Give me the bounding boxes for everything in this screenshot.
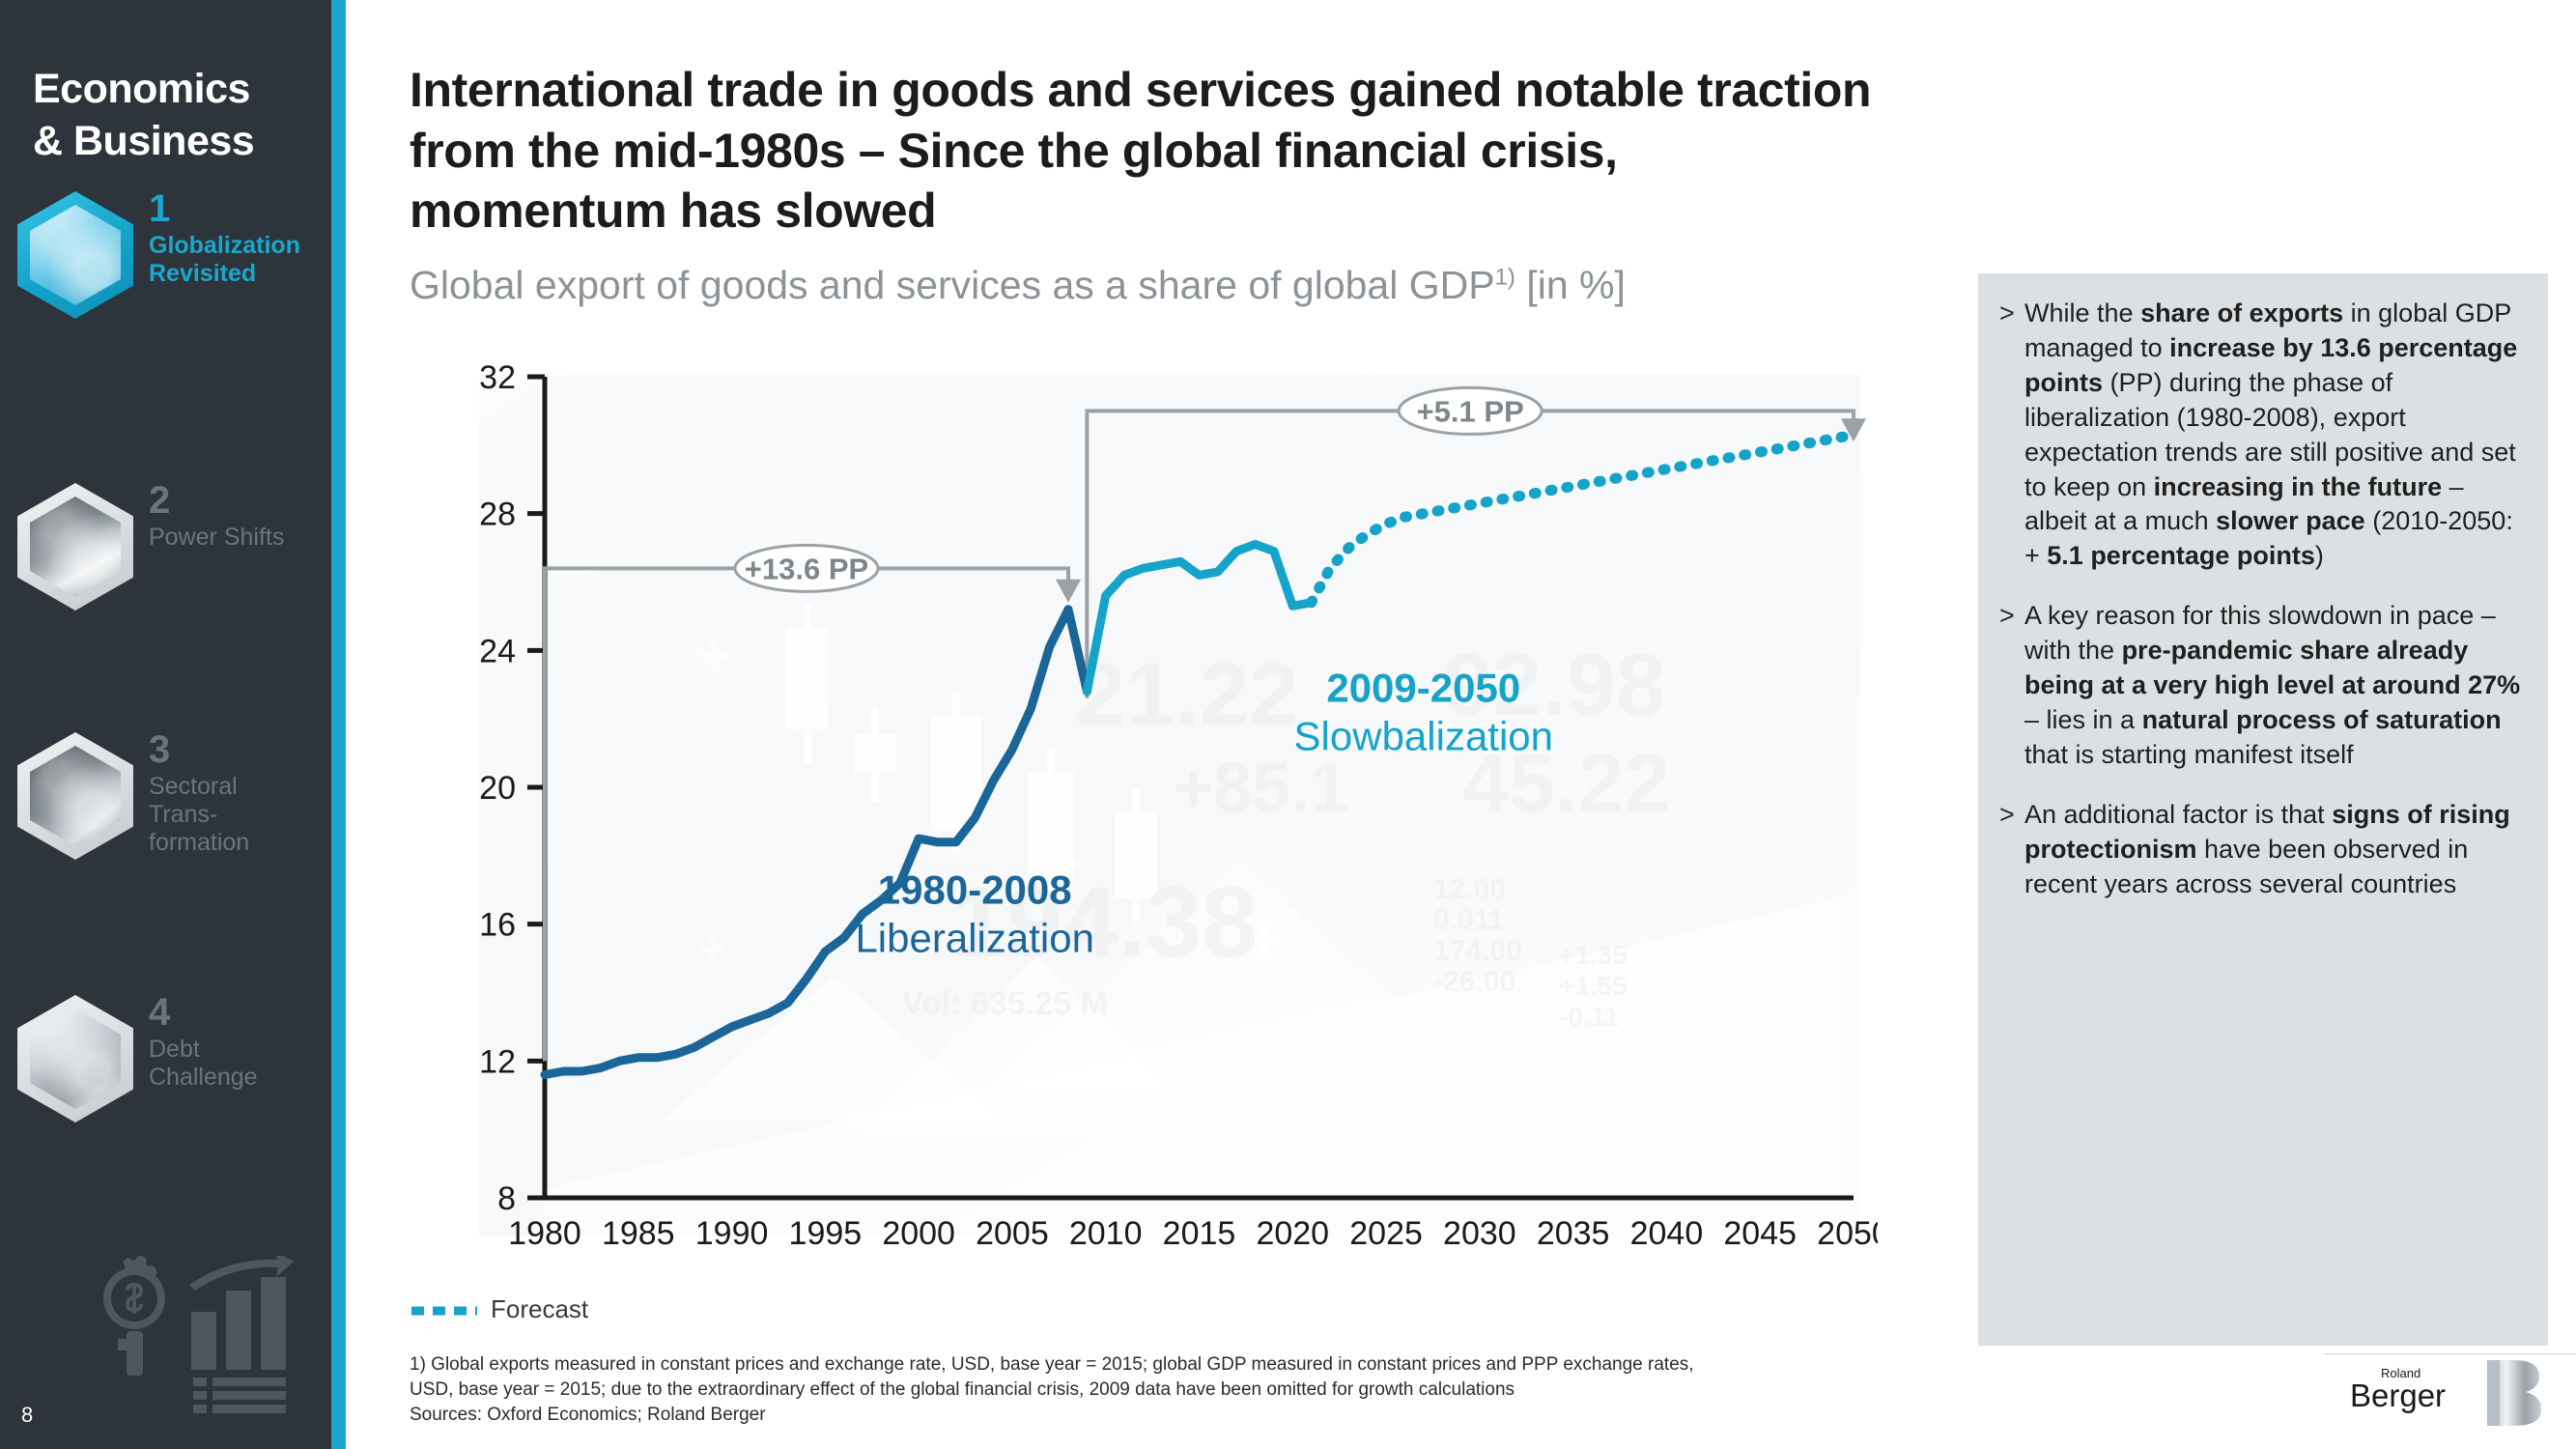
x-tick-label: 1980 [508, 1215, 581, 1252]
sidebar-item-number: 4 [149, 993, 332, 1032]
y-tick-label: 20 [479, 770, 516, 807]
x-tick-label: 2050 [1817, 1215, 1878, 1252]
sidebar-item-power-shifts[interactable]: 2 Power Shifts [10, 483, 328, 628]
insights-panel: >While the share of exports in global GD… [1978, 273, 2548, 1346]
logo-divider [2325, 1353, 2576, 1354]
page-title: International trade in goods and service… [410, 60, 1878, 241]
footnote: 1) Global exports measured in constant p… [410, 1352, 1955, 1429]
x-tick-label: 2020 [1256, 1215, 1329, 1252]
hexagon-globe-icon [17, 483, 133, 611]
subtitle-main: Global export of goods and services as a… [410, 263, 1495, 307]
chart-canvas: 21.22 92.98 +85.1 45.22 194.38 Vol: 635.… [410, 357, 1878, 1285]
legend-label: Forecast [491, 1294, 588, 1323]
hexagon-coins-icon [17, 995, 133, 1122]
insight-bullet: >While the share of exports in global GD… [1999, 297, 2523, 574]
chart-background-image: 21.22 92.98 +85.1 45.22 194.38 Vol: 635.… [479, 375, 1860, 1236]
logo-berger-text: Berger [2350, 1378, 2446, 1413]
chart-subtitle: Global export of goods and services as a… [410, 263, 1665, 308]
y-tick-label: 16 [479, 907, 516, 944]
y-tick-label: 8 [497, 1180, 516, 1217]
x-tick-label: 2000 [882, 1215, 955, 1252]
phase-label-subtitle: Liberalization [855, 915, 1094, 960]
bullet-text: A key reason for this slowdown in pace –… [2024, 599, 2523, 773]
bracket-label: +5.1 PP [1417, 394, 1524, 428]
sidebar-item-number: 1 [149, 189, 332, 228]
x-tick-label: 2045 [1723, 1215, 1797, 1252]
y-tick-label: 24 [479, 633, 516, 669]
x-tick-label: 1990 [695, 1215, 769, 1252]
x-axis-ticks: 1980198519901995200020052010201520202025… [508, 1215, 1878, 1252]
hexagon-person-globe-icon [17, 191, 133, 319]
x-tick-label: 2015 [1163, 1215, 1236, 1252]
insight-bullet: >A key reason for this slowdown in pace … [1999, 599, 2523, 773]
page-number: 8 [21, 1403, 33, 1428]
phase-label-title: 2009-2050 [1326, 665, 1520, 710]
insights-bullet-list: >While the share of exports in global GD… [1978, 273, 2548, 902]
subtitle-footnote-ref: 1) [1495, 264, 1515, 290]
bracket-label: +13.6 PP [745, 552, 868, 585]
insight-bullet: >An additional factor is that signs of r… [1999, 798, 2523, 902]
x-tick-label: 2005 [976, 1215, 1049, 1252]
x-tick-label: 1995 [789, 1215, 863, 1252]
subtitle-unit: [in %] [1515, 263, 1626, 307]
phase-label-title: 1980-2008 [878, 867, 1072, 912]
sidebar-item-debt-challenge[interactable]: 4 DebtChallenge [10, 995, 328, 1140]
footnote-sources: Sources: Oxford Economics; Roland Berger [410, 1403, 1955, 1428]
brand-line-1: Economics [33, 63, 254, 115]
brand-line-2: & Business [33, 115, 254, 167]
x-tick-label: 2030 [1443, 1215, 1516, 1252]
dashed-line-swatch [410, 1305, 479, 1317]
gear-dollar-magnifier-barchart-icon [75, 1256, 307, 1420]
bullet-text: While the share of exports in global GDP… [2024, 297, 2523, 574]
hexagon-people-lab-icon [17, 732, 133, 860]
y-tick-label: 28 [479, 497, 516, 533]
sidebar-item-number: 3 [149, 730, 332, 769]
x-tick-label: 1985 [602, 1215, 675, 1252]
x-tick-label: 2040 [1630, 1215, 1704, 1252]
sidebar-item-label: DebtChallenge [149, 1036, 332, 1092]
sidebar-item-number: 2 [149, 481, 332, 520]
footnote-line-1: 1) Global exports measured in constant p… [410, 1352, 1955, 1378]
sidebar-item-label: Power Shifts [149, 524, 332, 552]
export-share-line-chart: 21.22 92.98 +85.1 45.22 194.38 Vol: 635.… [410, 357, 1878, 1285]
bullet-marker: > [1999, 297, 2024, 574]
x-tick-label: 2010 [1069, 1215, 1143, 1252]
phase-label-subtitle: Slowbalization [1294, 713, 1554, 758]
y-tick-label: 32 [479, 359, 516, 396]
y-tick-label: 12 [479, 1043, 516, 1080]
chart-legend: Forecast [410, 1294, 588, 1324]
brand-title: Economics & Business [33, 63, 254, 167]
x-tick-label: 2025 [1349, 1215, 1423, 1252]
bullet-marker: > [1999, 599, 2024, 773]
sidebar-item-label: Globalization Revisited [149, 232, 332, 288]
x-tick-label: 2035 [1537, 1215, 1610, 1252]
sidebar-item-globalization-revisited[interactable]: 1 Globalization Revisited [10, 191, 328, 336]
footnote-line-2: USD, base year = 2015; due to the extrao… [410, 1378, 1955, 1403]
bullet-text: An additional factor is that signs of ri… [2024, 798, 2523, 902]
berger-b-icon: Roland Berger [2342, 1356, 2549, 1428]
sidebar-item-sectoral-transformation[interactable]: 3 SectoralTrans-formation [10, 732, 328, 877]
sidebar-accent-stripe [331, 0, 346, 1449]
bullet-marker: > [1999, 798, 2024, 902]
sidebar-item-label: SectoralTrans-formation [149, 773, 332, 857]
